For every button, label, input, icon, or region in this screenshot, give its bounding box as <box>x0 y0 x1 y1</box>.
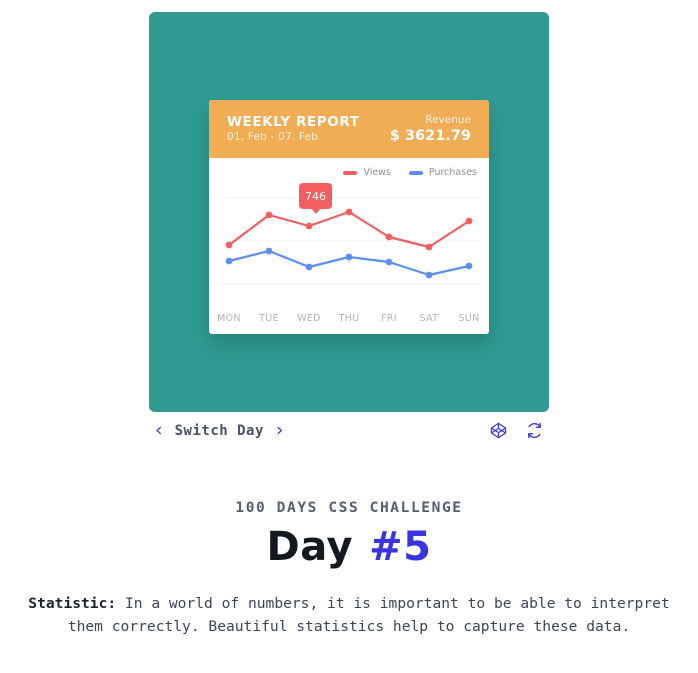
data-point-views-tue[interactable] <box>266 212 273 219</box>
weekly-report-card: WEEKLY REPORT 01. Feb - 07. Feb Revenue … <box>209 100 489 334</box>
legend-swatch-purchases <box>409 171 423 175</box>
data-point-views-sun[interactable] <box>466 218 473 225</box>
chart-x-axis: MON TUE WED THU FRI SAT SUN <box>209 313 489 324</box>
data-point-purchases-wed[interactable] <box>306 264 313 271</box>
chart-tooltip: 746 <box>299 183 332 209</box>
report-header-left: WEEKLY REPORT 01. Feb - 07. Feb <box>227 116 360 143</box>
legend-item-views[interactable]: Views <box>343 168 391 178</box>
switch-day-control: ‹ Switch Day › <box>154 421 285 440</box>
report-card-header: WEEKLY REPORT 01. Feb - 07. Feb Revenue … <box>209 100 489 158</box>
x-tick-tue: TUE <box>249 313 289 324</box>
codepen-icon[interactable] <box>490 422 507 439</box>
x-tick-sun: SUN <box>449 313 489 324</box>
report-header-right: Revenue $ 3621.79 <box>390 115 471 143</box>
x-tick-wed: WED <box>289 313 329 324</box>
data-point-views-sat[interactable] <box>426 244 433 251</box>
report-title: WEEKLY REPORT <box>227 116 360 130</box>
chart-plot-area: 746 <box>209 188 489 288</box>
chart-legend: Views Purchases <box>343 168 477 178</box>
day-word: Day <box>267 524 354 570</box>
data-point-views-mon[interactable] <box>226 242 233 249</box>
x-tick-sat: SAT <box>409 313 449 324</box>
controls-row: ‹ Switch Day › <box>149 421 549 449</box>
legend-label-views: Views <box>363 168 391 178</box>
demo-stage: WEEKLY REPORT 01. Feb - 07. Feb Revenue … <box>149 12 549 412</box>
switch-day-label[interactable]: Switch Day <box>175 424 264 438</box>
series-line-views <box>229 212 469 247</box>
chevron-right-icon[interactable]: › <box>275 421 285 440</box>
description-body: In a world of numbers, it is important t… <box>68 595 670 635</box>
challenge-heading: 100 DAYS CSS CHALLENGE <box>0 500 698 516</box>
data-point-purchases-fri[interactable] <box>386 259 393 266</box>
legend-swatch-views <box>343 171 357 175</box>
refresh-icon[interactable] <box>526 422 543 439</box>
report-date-range: 01. Feb - 07. Feb <box>227 132 360 143</box>
chart-body: Views Purchases <box>209 158 489 334</box>
x-tick-thu: THU <box>329 313 369 324</box>
legend-label-purchases: Purchases <box>429 168 477 178</box>
data-point-purchases-tue[interactable] <box>266 248 273 255</box>
day-number: #5 <box>369 524 431 570</box>
chart-svg <box>209 188 489 288</box>
revenue-label: Revenue <box>425 115 471 126</box>
chevron-left-icon[interactable]: ‹ <box>154 421 164 440</box>
x-tick-mon: MON <box>209 313 249 324</box>
data-point-views-fri[interactable] <box>386 234 393 241</box>
data-point-purchases-mon[interactable] <box>226 258 233 265</box>
legend-item-purchases[interactable]: Purchases <box>409 168 477 178</box>
control-icons <box>490 422 543 439</box>
data-point-purchases-sat[interactable] <box>426 272 433 279</box>
data-point-purchases-thu[interactable] <box>346 254 353 261</box>
x-tick-fri: FRI <box>369 313 409 324</box>
data-point-purchases-sun[interactable] <box>466 263 473 270</box>
data-point-views-wed[interactable] <box>306 223 313 230</box>
data-point-views-thu[interactable] <box>346 209 353 216</box>
page-root: WEEKLY REPORT 01. Feb - 07. Feb Revenue … <box>0 0 698 673</box>
description-lead: Statistic: <box>28 595 116 612</box>
revenue-value: $ 3621.79 <box>390 129 471 144</box>
day-description: Statistic: In a world of numbers, it is … <box>19 592 679 638</box>
chart-tooltip-value: 746 <box>305 191 326 202</box>
day-heading: Day#5 <box>0 524 698 570</box>
